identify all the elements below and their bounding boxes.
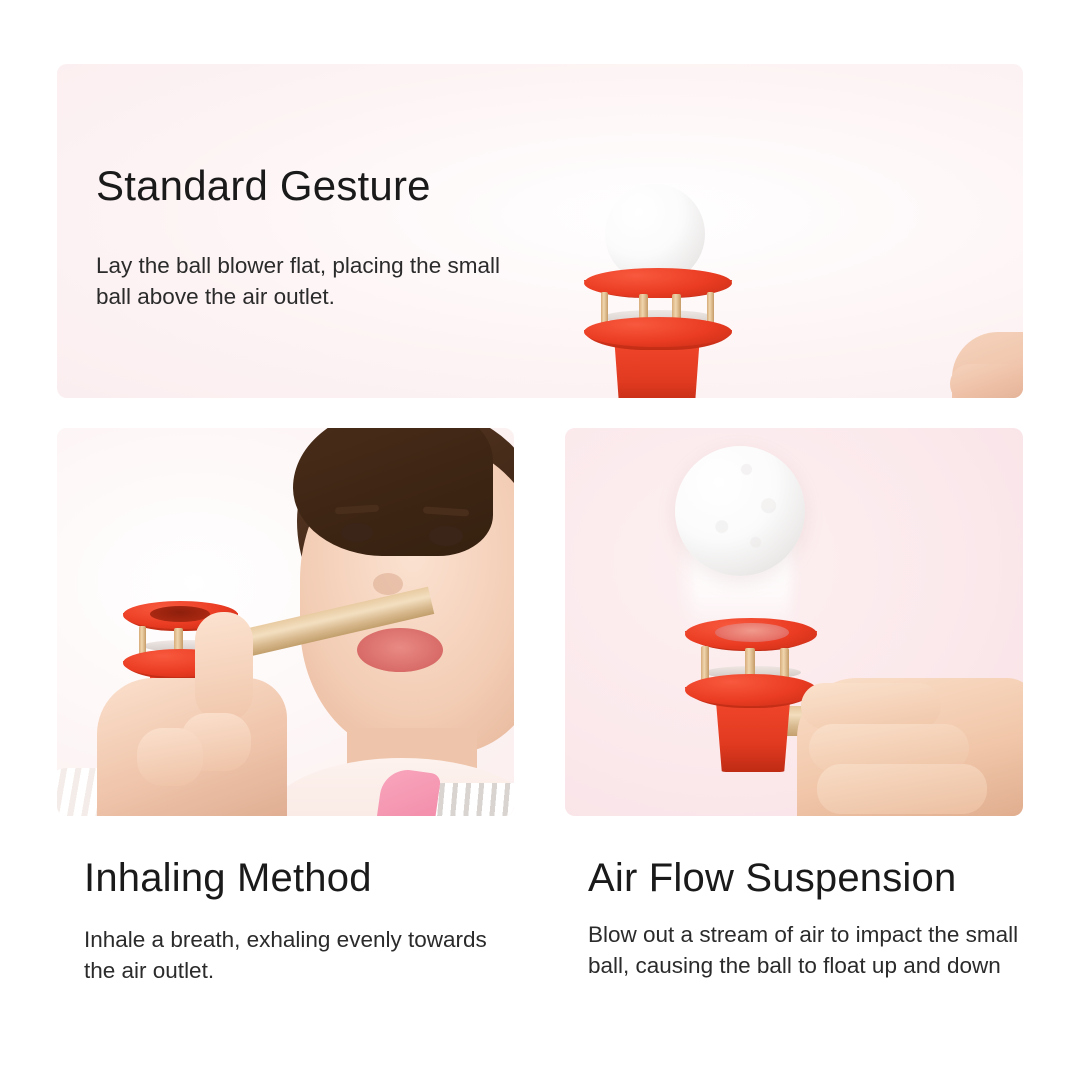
product-photo-air-flow-suspension: [565, 428, 1023, 816]
eye: [429, 526, 463, 546]
red-body-cone: [612, 345, 702, 398]
panel-inhaling-method: [57, 428, 514, 816]
panel-heading-standard-gesture: Standard Gesture: [96, 162, 431, 210]
panel-body-inhaling-method: Inhale a breath, exhaling evenly towards…: [84, 925, 504, 986]
lower-red-disc: [584, 317, 732, 347]
red-body-cone: [713, 704, 793, 772]
product-photo-standard-gesture: [57, 64, 1023, 398]
striped-shirt: [427, 783, 514, 816]
panel-air-flow-suspension: [565, 428, 1023, 816]
panel-body-standard-gesture: Lay the ball blower flat, placing the sm…: [96, 251, 516, 312]
nose: [373, 573, 403, 595]
child-hair-fringe: [293, 428, 493, 556]
eye: [341, 523, 373, 542]
finger: [801, 683, 941, 729]
finger: [137, 728, 203, 786]
infographic-page: Standard Gesture Lay the ball blower fla…: [0, 0, 1080, 1080]
air-outlet-hole: [150, 606, 210, 622]
foam-ball-texture: [675, 446, 805, 576]
product-photo-inhaling-method: [57, 428, 514, 816]
finger: [950, 364, 1023, 398]
lower-red-disc: [685, 674, 817, 706]
wooden-dowel: [701, 646, 709, 682]
finger: [195, 612, 253, 722]
panel-heading-air-flow-suspension: Air Flow Suspension: [588, 856, 956, 901]
panel-standard-gesture: [57, 64, 1023, 398]
panel-body-air-flow-suspension: Blow out a stream of air to impact the s…: [588, 920, 1038, 981]
air-outlet-hole: [715, 623, 789, 642]
finger: [817, 764, 987, 814]
panel-heading-inhaling-method: Inhaling Method: [84, 856, 372, 901]
